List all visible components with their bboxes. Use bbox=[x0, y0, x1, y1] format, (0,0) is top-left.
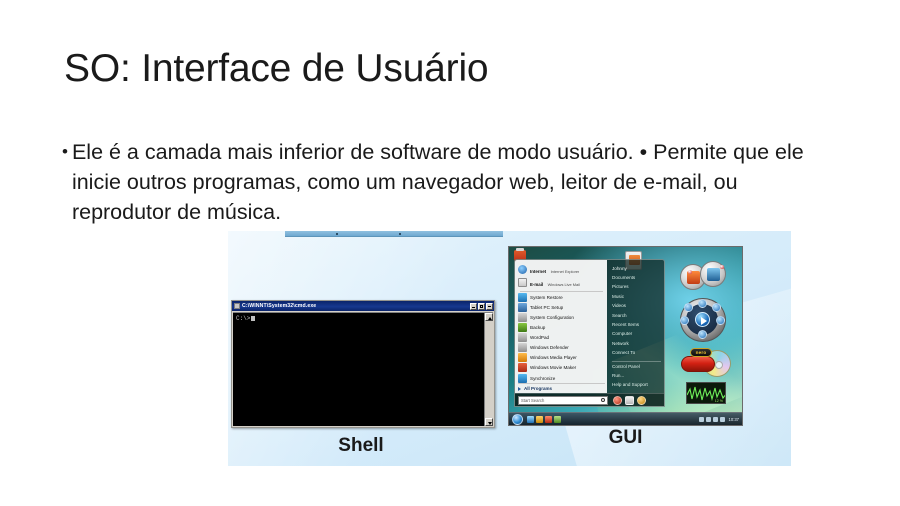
cmd-console-area[interactable]: C:\> bbox=[233, 312, 493, 426]
windows-media-player-icon bbox=[518, 353, 527, 362]
window-controls bbox=[470, 303, 493, 310]
nero-logo: nero bbox=[690, 348, 712, 357]
comparison-figure: C:\WINNT\System32\cmd.exe C:\> Shell bbox=[228, 231, 791, 466]
picture-puzzle-gadget[interactable] bbox=[678, 261, 736, 291]
console-icon bbox=[234, 303, 240, 309]
up-icon[interactable] bbox=[698, 299, 707, 308]
start-menu-item-tablet-pc-setup[interactable]: Tablet PC Setup bbox=[518, 303, 605, 313]
previous-icon[interactable] bbox=[680, 316, 689, 325]
search-icon bbox=[601, 398, 605, 402]
start-menu-item-backup[interactable]: Backup bbox=[518, 323, 605, 333]
start-menu-item-email[interactable]: E-mail Windows Live Mail bbox=[518, 276, 605, 289]
start-menu-footer: Start Search bbox=[515, 393, 664, 406]
wordpad-icon bbox=[518, 333, 527, 342]
body-text-block: • Ele é a camada mais inferior de softwa… bbox=[62, 137, 824, 227]
slide: SO: Interface de Usuário • Ele é a camad… bbox=[0, 0, 900, 506]
start-menu[interactable]: Internet Internet Explorer E-mail Window… bbox=[514, 259, 665, 407]
lock-button[interactable] bbox=[625, 396, 634, 405]
start-menu-item-system-configuration[interactable]: System Configuration bbox=[518, 313, 605, 323]
start-search-placeholder: Start Search bbox=[521, 398, 601, 403]
gui-caption: GUI bbox=[508, 427, 743, 449]
system-configuration-icon bbox=[518, 313, 527, 322]
stop-icon[interactable] bbox=[698, 330, 707, 339]
maximize-button[interactable] bbox=[478, 303, 485, 310]
scroll-down-icon[interactable] bbox=[485, 418, 493, 426]
quick-launch-icon[interactable] bbox=[545, 416, 552, 423]
start-link-pictures[interactable]: Pictures bbox=[612, 284, 661, 293]
start-orb-icon[interactable] bbox=[512, 414, 523, 425]
divider bbox=[520, 291, 603, 292]
start-menu-item-synchronize[interactable]: Synchronize bbox=[518, 373, 605, 383]
nero-body bbox=[681, 356, 715, 372]
quick-launch-icon[interactable] bbox=[527, 416, 534, 423]
scroll-up-icon[interactable] bbox=[485, 313, 493, 321]
synchronize-icon bbox=[518, 374, 527, 383]
play-icon[interactable] bbox=[695, 312, 710, 327]
cpu-meter-label: 12 % bbox=[715, 399, 723, 403]
cmd-scrollbar[interactable] bbox=[484, 313, 493, 426]
start-link-videos[interactable]: Videos bbox=[612, 303, 661, 312]
cmd-window[interactable]: C:\WINNT\System32\cmd.exe C:\> bbox=[231, 300, 495, 428]
pinned-title: E-mail bbox=[530, 282, 543, 287]
cpu-meter-gadget[interactable]: 12 % bbox=[686, 382, 726, 404]
tablet-pc-icon bbox=[518, 303, 527, 312]
all-programs-button[interactable]: All Programs bbox=[518, 383, 605, 393]
internet-explorer-icon bbox=[518, 265, 527, 274]
cropped-window-strip bbox=[285, 231, 503, 237]
start-menu-item-windows-movie-maker[interactable]: Windows Movie Maker bbox=[518, 363, 605, 373]
cmd-title-bar[interactable]: C:\WINNT\System32\cmd.exe bbox=[232, 301, 494, 311]
chevron-right-icon bbox=[518, 387, 521, 391]
start-link-documents[interactable]: Documents bbox=[612, 275, 661, 284]
cmd-prompt-line: C:\> bbox=[233, 313, 484, 426]
quick-launch-bar bbox=[527, 416, 561, 423]
windows-defender-icon bbox=[518, 343, 527, 352]
bullet-marker: • bbox=[62, 137, 68, 167]
start-menu-columns: Internet Internet Explorer E-mail Window… bbox=[515, 260, 664, 393]
tray-icon[interactable] bbox=[706, 417, 711, 422]
start-link-run[interactable]: Run... bbox=[612, 373, 661, 382]
power-controls bbox=[613, 396, 646, 405]
mail-icon bbox=[518, 278, 527, 287]
divider bbox=[612, 361, 661, 362]
volume-icon[interactable] bbox=[720, 417, 725, 422]
start-menu-item-windows-media-player[interactable]: Windows Media Player bbox=[518, 353, 605, 363]
quick-launch-icon[interactable] bbox=[554, 416, 561, 423]
minimize-button[interactable] bbox=[470, 303, 477, 310]
start-menu-item-wordpad[interactable]: WordPad bbox=[518, 333, 605, 343]
nero-gadget[interactable]: nero bbox=[678, 348, 732, 378]
sidebar-gadgets: nero 12 % bbox=[678, 261, 736, 404]
dot-icon bbox=[688, 270, 692, 274]
windows-movie-maker-icon bbox=[518, 363, 527, 372]
start-menu-left-column: Internet Internet Explorer E-mail Window… bbox=[515, 260, 607, 393]
system-restore-icon bbox=[518, 293, 527, 302]
start-link-recent-items[interactable]: Recent Items bbox=[612, 322, 661, 331]
cmd-window-title: C:\WINNT\System32\cmd.exe bbox=[242, 303, 470, 309]
start-link-computer[interactable]: Computer bbox=[612, 331, 661, 340]
shutdown-options-button[interactable] bbox=[637, 396, 646, 405]
vista-taskbar[interactable]: 10:37 bbox=[509, 412, 742, 425]
quick-launch-icon[interactable] bbox=[536, 416, 543, 423]
vista-desktop: Internet Internet Explorer E-mail Window… bbox=[508, 246, 743, 426]
start-menu-right-column: Johnny Documents Pictures Music Videos S… bbox=[607, 260, 664, 393]
dot-icon bbox=[720, 265, 724, 269]
power-button[interactable] bbox=[613, 396, 622, 405]
next-icon[interactable] bbox=[716, 316, 725, 325]
page-title: SO: Interface de Usuário bbox=[64, 47, 488, 91]
start-link-network[interactable]: Network bbox=[612, 341, 661, 350]
backup-icon bbox=[518, 323, 527, 332]
pinned-subtitle: Windows Live Mail bbox=[548, 282, 580, 287]
system-tray[interactable]: 10:37 bbox=[699, 417, 739, 422]
start-link-help-and-support[interactable]: Help and Support bbox=[612, 382, 661, 391]
network-icon[interactable] bbox=[713, 417, 718, 422]
bullet-item: • Ele é a camada mais inferior de softwa… bbox=[62, 137, 824, 227]
shell-caption: Shell bbox=[256, 435, 466, 457]
start-link-music[interactable]: Music bbox=[612, 294, 661, 303]
start-link-control-panel[interactable]: Control Panel bbox=[612, 364, 661, 373]
cmd-prompt-text: C:\> bbox=[236, 315, 250, 322]
bullet-text: Ele é a camada mais inferior de software… bbox=[72, 137, 824, 227]
start-menu-item-windows-defender[interactable]: Windows Defender bbox=[518, 343, 605, 353]
start-search-input[interactable]: Start Search bbox=[518, 396, 608, 405]
start-link-search[interactable]: Search bbox=[612, 313, 661, 322]
start-menu-item-system-restore[interactable]: System Restore bbox=[518, 293, 605, 303]
cmd-cursor bbox=[251, 316, 255, 321]
user-name: Johnny bbox=[612, 266, 661, 271]
close-button[interactable] bbox=[486, 303, 493, 310]
tray-icon[interactable] bbox=[699, 417, 704, 422]
repeat-icon[interactable] bbox=[712, 303, 721, 312]
taskbar-clock[interactable]: 10:37 bbox=[729, 417, 739, 422]
media-center-dial-gadget[interactable] bbox=[678, 297, 732, 343]
start-link-connect-to[interactable]: Connect To bbox=[612, 350, 661, 359]
shuffle-icon[interactable] bbox=[684, 303, 693, 312]
